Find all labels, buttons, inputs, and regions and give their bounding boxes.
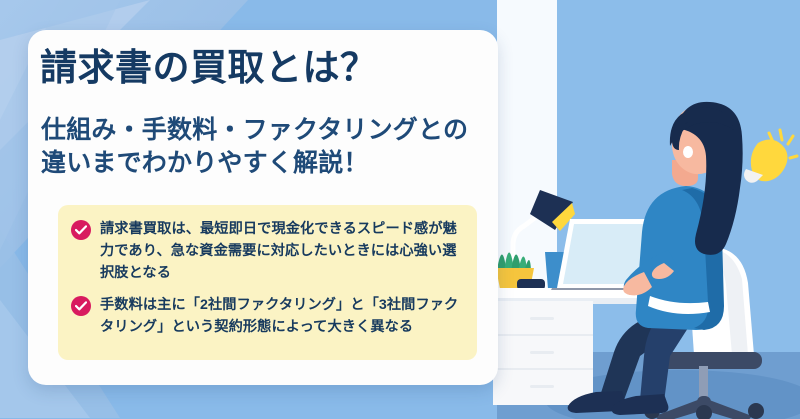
banner-image: 請求書の買取とは？ 仕組み・手数料・ファクタリングとの 違いまでわかりやすく解説…	[0, 0, 800, 419]
list-item: 手数料は主に「2社間ファクタリング」と「3社間ファクタリング」という契約形態によ…	[71, 294, 467, 338]
check-circle-icon	[71, 220, 91, 240]
page-title: 請求書の買取とは？	[40, 48, 490, 88]
content-card: 請求書の買取とは？ 仕組み・手数料・ファクタリングとの 違いまでわかりやすく解説…	[28, 30, 498, 385]
highlight-text: 請求書買取は、最短即日で現金化できるスピード感が魅力であり、急な資金需要に対応し…	[100, 218, 467, 284]
subtitle-line-2: 違いまでわかりやすく解説！	[41, 147, 498, 180]
drawer-cabinet-icon	[493, 301, 593, 405]
page-subtitle: 仕組み・手数料・ファクタリングとの 違いまでわかりやすく解説！	[41, 114, 498, 180]
list-item: 請求書買取は、最短即日で現金化できるスピード感が魅力であり、急な資金需要に対応し…	[71, 218, 467, 284]
highlight-box: 請求書買取は、最短即日で現金化できるスピード感が魅力であり、急な資金需要に対応し…	[58, 205, 477, 360]
highlight-text: 手数料は主に「2社間ファクタリング」と「3社間ファクタリング」という契約形態によ…	[100, 294, 467, 338]
subtitle-line-1: 仕組み・手数料・ファクタリングとの	[41, 114, 498, 147]
check-circle-icon	[71, 296, 91, 316]
